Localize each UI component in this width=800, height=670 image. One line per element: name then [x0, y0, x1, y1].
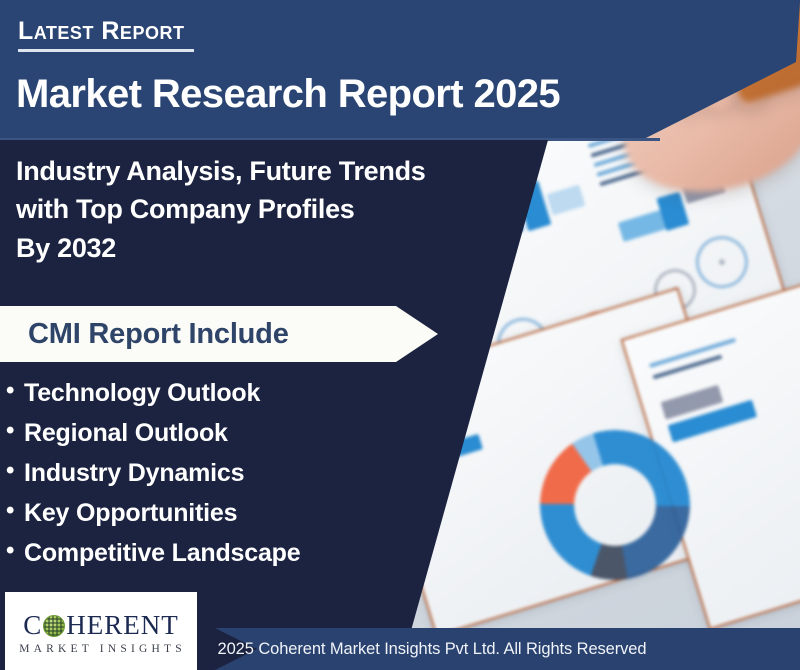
- subtitle-line-1: Industry Analysis, Future Trends: [16, 152, 426, 190]
- subtitle-line-2: with Top Company Profiles: [16, 190, 426, 228]
- list-item: Industry Dynamics: [6, 461, 300, 486]
- banner-label: CMI Report Include: [28, 306, 289, 362]
- footer-copyright: 2025 Coherent Market Insights Pvt Ltd. A…: [0, 628, 800, 670]
- list-item: Regional Outlook: [6, 421, 300, 446]
- report-poster: Latest Report Market Research Report 202…: [0, 0, 800, 670]
- list-item: Key Opportunities: [6, 501, 300, 526]
- cmi-report-banner: CMI Report Include: [0, 306, 440, 362]
- page-title: Market Research Report 2025: [16, 72, 560, 117]
- list-item: Competitive Landscape: [6, 541, 300, 566]
- eyebrow-label: Latest Report: [18, 18, 194, 52]
- list-item: Technology Outlook: [6, 381, 300, 406]
- report-includes-list: Technology Outlook Regional Outlook Indu…: [6, 381, 300, 581]
- subtitle: Industry Analysis, Future Trends with To…: [16, 152, 426, 267]
- subtitle-line-3: By 2032: [16, 229, 426, 267]
